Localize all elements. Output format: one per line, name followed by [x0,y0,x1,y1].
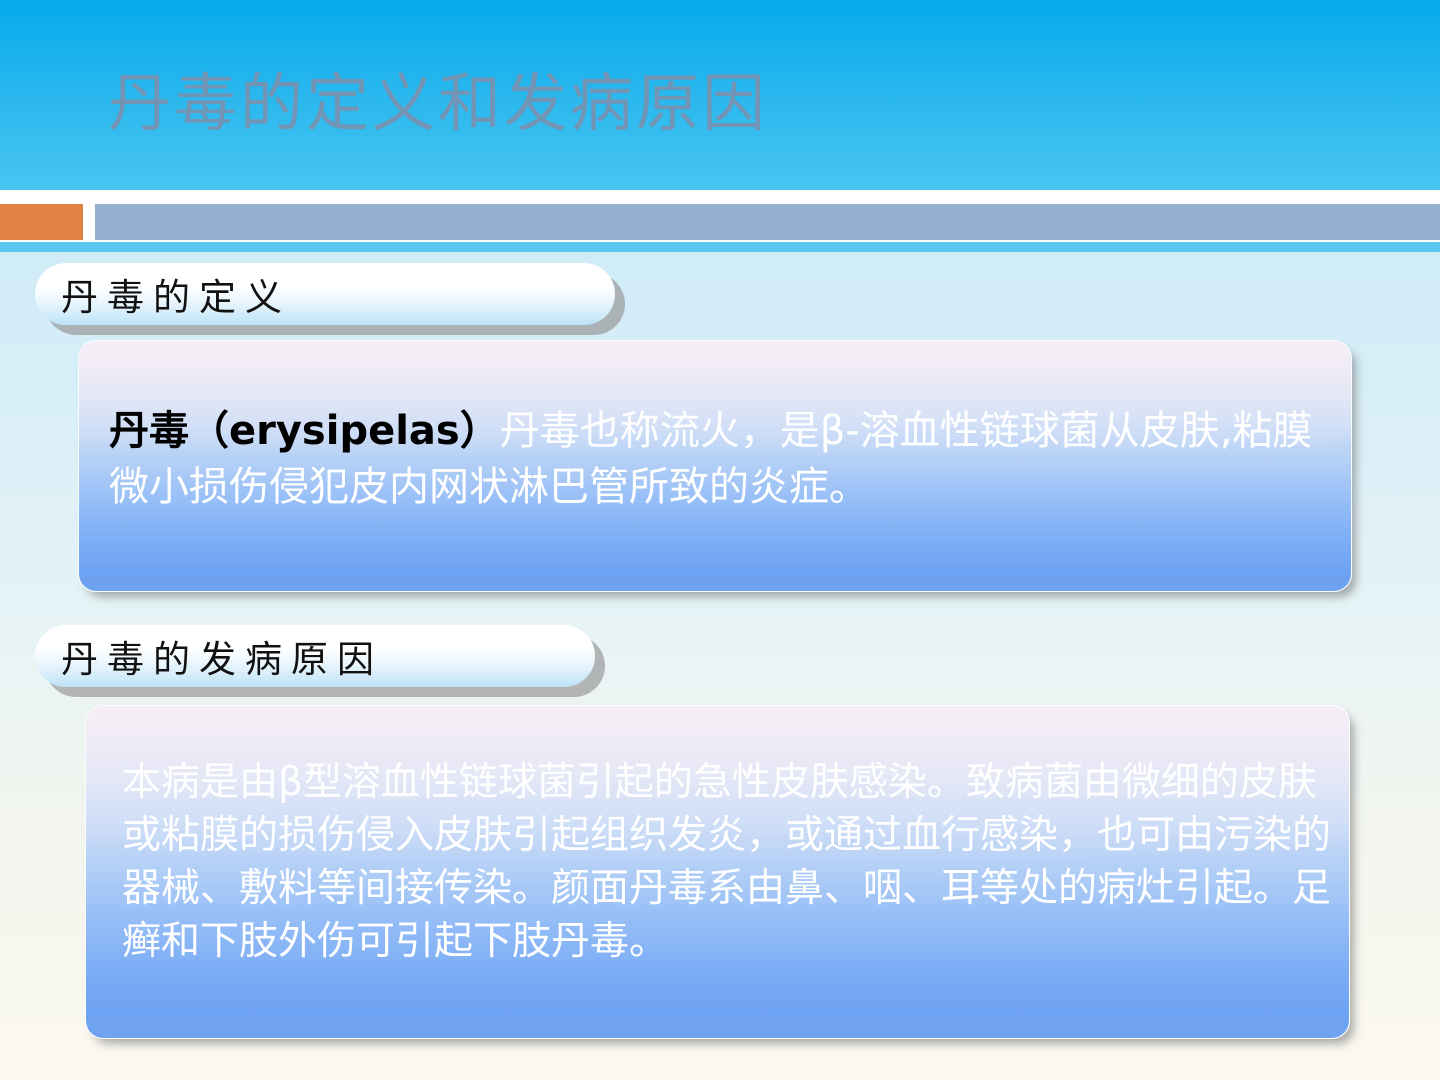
definition-term: 丹毒（erysipelas） [109,408,500,454]
accent-bar-grey [95,204,1440,240]
slide-canvas: 丹毒的定义和发病原因 丹毒的定义 丹毒（erysipelas）丹毒也称流火，是β… [0,0,1440,1080]
content-box-definition: 丹毒（erysipelas）丹毒也称流火，是β‐溶血性链球菌从皮肤,粘膜微小损伤… [78,340,1352,592]
under-divider-cyan-bar [0,242,1440,252]
page-title: 丹毒的定义和发病原因 [108,68,1308,140]
content-box-causes-text: 本病是由β型溶血性链球菌引起的急性皮肤感染。致病菌由微细的皮肤或粘膜的损伤侵入皮… [86,706,1349,968]
section-header-causes: 丹毒的发病原因 [35,625,595,687]
section-header-definition: 丹毒的定义 [35,263,615,325]
section-header-causes-label: 丹毒的发病原因 [35,629,383,683]
accent-bar-orange [0,204,83,240]
content-box-causes: 本病是由β型溶血性链球菌引起的急性皮肤感染。致病菌由微细的皮肤或粘膜的损伤侵入皮… [85,705,1350,1039]
section-header-definition-label: 丹毒的定义 [35,267,291,321]
content-box-definition-text: 丹毒（erysipelas）丹毒也称流火，是β‐溶血性链球菌从皮肤,粘膜微小损伤… [79,341,1351,515]
